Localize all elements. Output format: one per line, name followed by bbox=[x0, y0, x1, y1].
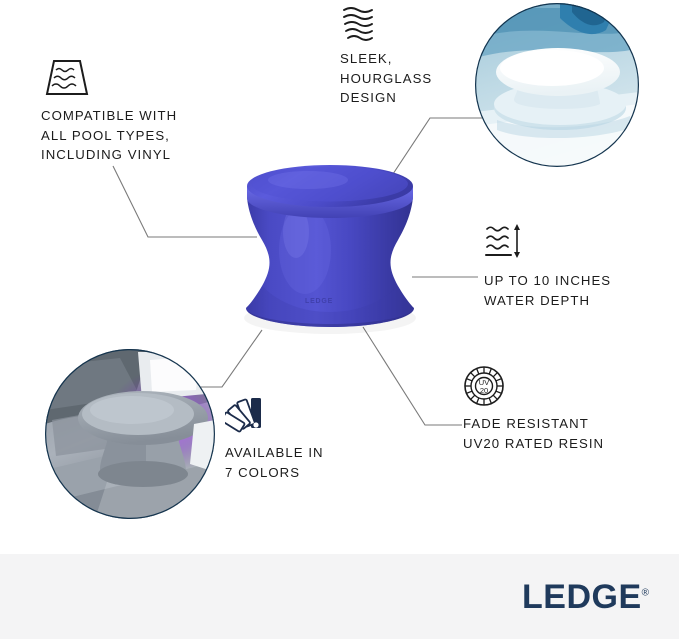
feature-pool-types-label: COMPATIBLE WITH ALL POOL TYPES, INCLUDIN… bbox=[41, 106, 177, 165]
feature-fade-resistant: UV 20 FADE RESISTANT UV20 RATED RESIN bbox=[463, 365, 604, 453]
photo-white-stool-in-pool bbox=[475, 3, 639, 167]
feature-fade-resistant-label: FADE RESISTANT UV20 RATED RESIN bbox=[463, 414, 604, 453]
uv-sun-badge-icon: UV 20 bbox=[463, 365, 505, 407]
feature-water-depth-label: UP TO 10 INCHES WATER DEPTH bbox=[484, 271, 611, 310]
brand-logo: LEDGE® bbox=[522, 580, 649, 614]
color-swatch-fan-icon bbox=[225, 394, 265, 436]
water-depth-arrow-icon bbox=[484, 222, 526, 264]
feature-colors: AVAILABLE IN 7 COLORS bbox=[225, 394, 324, 482]
pool-cross-section-icon bbox=[41, 57, 89, 99]
uv-badge-line2: 20 bbox=[480, 386, 488, 395]
brand-logo-text: LEDGE bbox=[522, 578, 642, 616]
feature-pool-types: COMPATIBLE WITH ALL POOL TYPES, INCLUDIN… bbox=[41, 57, 177, 165]
connector-colors bbox=[196, 330, 262, 387]
connector-pool-types bbox=[113, 166, 257, 237]
product-illustration bbox=[244, 165, 416, 334]
product-emboss-logo: LEDGE bbox=[305, 298, 333, 305]
feature-sleek-design: SLEEK, HOURGLASS DESIGN bbox=[340, 4, 432, 108]
feature-water-depth: UP TO 10 INCHES WATER DEPTH bbox=[484, 222, 611, 310]
photo-gray-stool-night bbox=[45, 349, 230, 519]
feature-sleek-design-label: SLEEK, HOURGLASS DESIGN bbox=[340, 49, 432, 108]
connector-sleek-design bbox=[389, 118, 500, 180]
connector-fade-resistant bbox=[363, 327, 462, 425]
feature-colors-label: AVAILABLE IN 7 COLORS bbox=[225, 443, 324, 482]
registered-mark-icon: ® bbox=[642, 588, 649, 599]
wavy-lines-icon bbox=[340, 4, 386, 42]
product-infographic: LEDGE COMPATIBLE WITH ALL POOL TYPES, IN… bbox=[0, 0, 679, 639]
